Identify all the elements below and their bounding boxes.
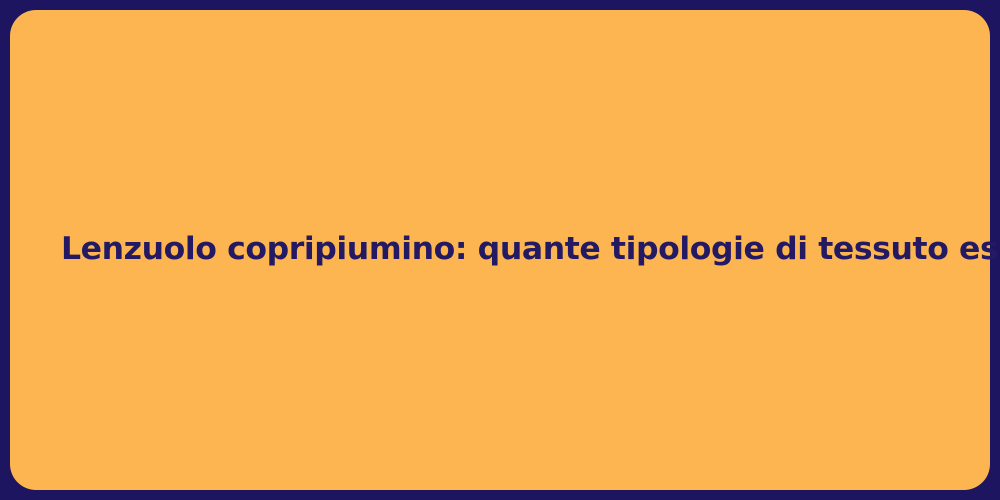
banner-card: Lenzuolo copripiumino: quante tipologie … bbox=[10, 10, 990, 490]
page-title: Lenzuolo copripiumino: quante tipologie … bbox=[10, 230, 1000, 269]
banner-frame: Lenzuolo copripiumino: quante tipologie … bbox=[0, 0, 1000, 500]
